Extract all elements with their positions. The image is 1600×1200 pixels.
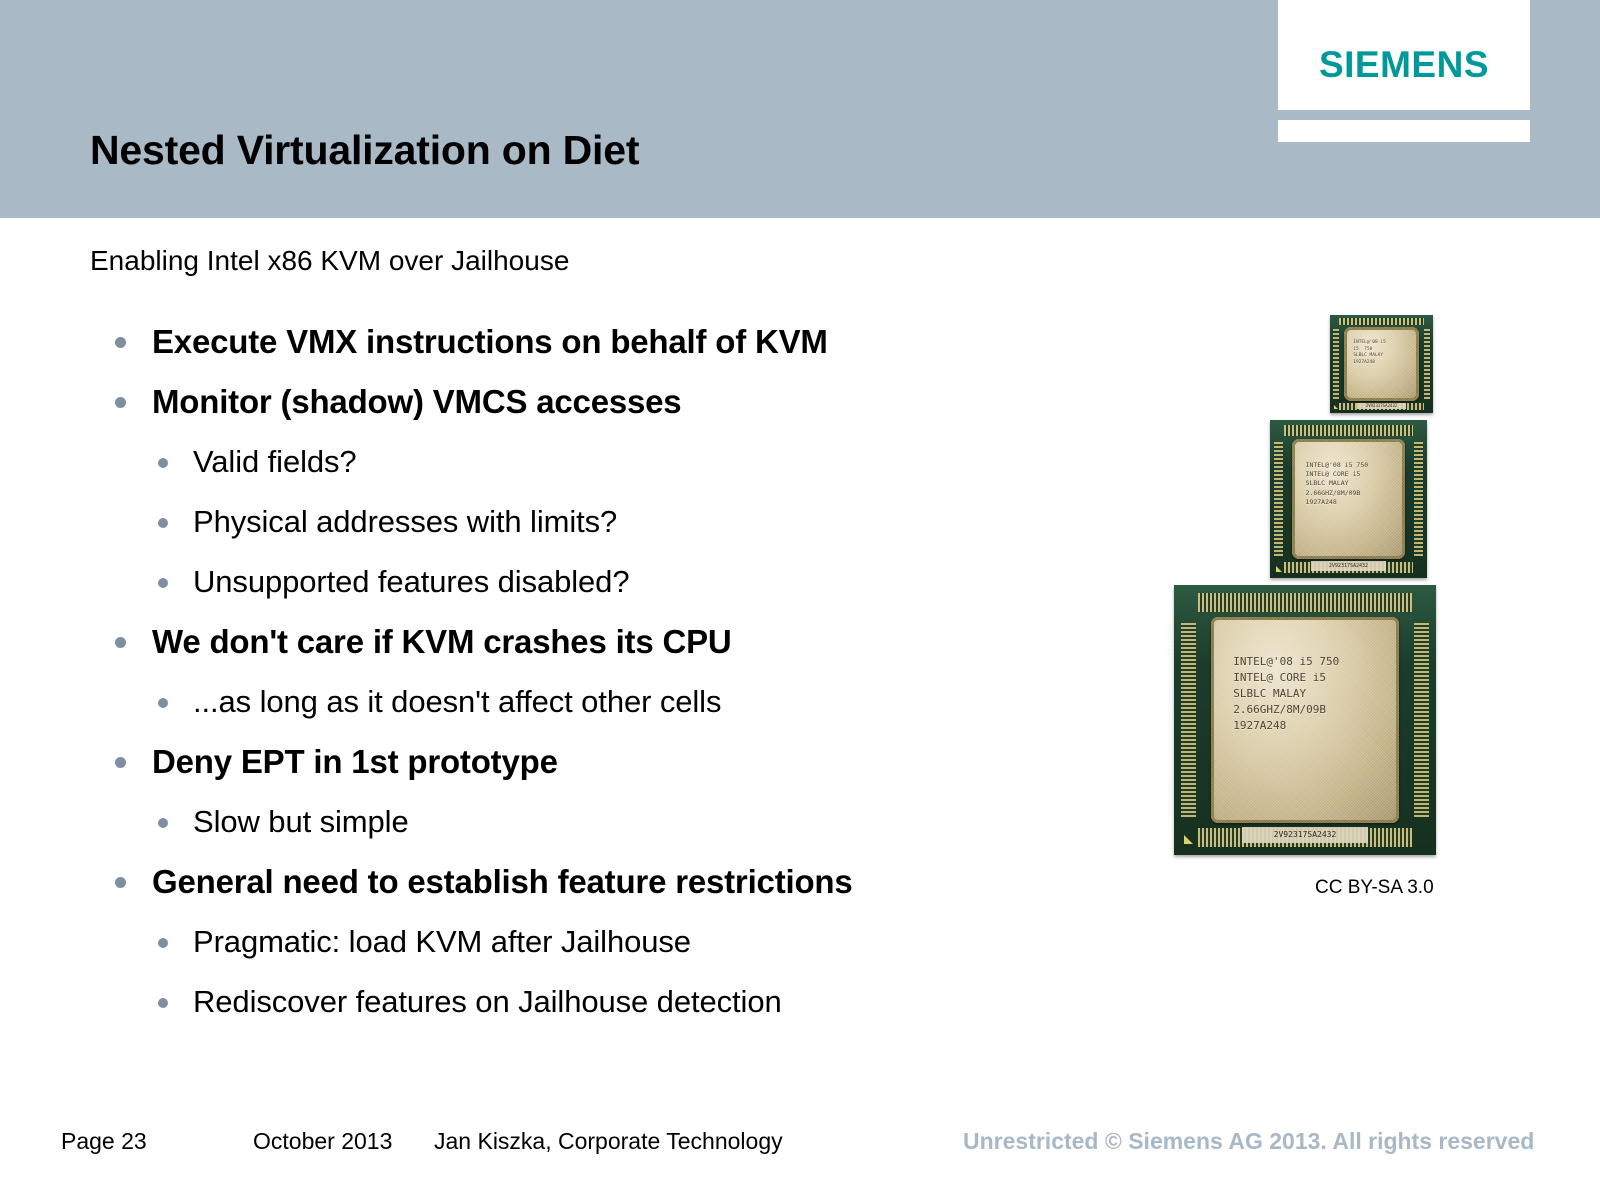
bullet-text: Unsupported features disabled? (193, 564, 629, 599)
cpu-pin-row-left (1181, 623, 1197, 817)
bullet-text: We don't care if KVM crashes its CPU (152, 623, 732, 660)
slide-footer: Page 23 October 2013 Jan Kiszka, Corpora… (0, 1128, 1600, 1168)
bullet-text: Deny EPT in 1st prototype (152, 743, 558, 780)
siemens-logo-wordmark: SIEMENS (1319, 46, 1489, 83)
cpu-photo-small: INTEL@'08 i5 i5 750 SLBLC MALAY 1927A248… (1330, 315, 1433, 413)
bullet-item: Execute VMX instructions on behalf of KV… (96, 312, 1086, 372)
bullet-item: Deny EPT in 1st prototype (96, 732, 1086, 792)
bullet-text: General need to establish feature restri… (152, 863, 853, 900)
bullet-text: Pragmatic: load KVM after Jailhouse (193, 924, 691, 959)
bullet-text: Rediscover features on Jailhouse detecti… (193, 984, 782, 1019)
cpu-heat-spreader: INTEL@'08 i5 i5 750 SLBLC MALAY 1927A248 (1344, 327, 1418, 401)
bullet-item: Monitor (shadow) VMCS accesses (96, 372, 1086, 432)
bullet-item: ...as long as it doesn't affect other ce… (96, 672, 1086, 732)
bullet-dot-icon (158, 818, 168, 828)
cpu-serial-label: 2V92317SA2432 (1242, 827, 1368, 843)
cpu-die-marking: INTEL@'08 i5 i5 750 SLBLC MALAY 1927A248 (1353, 340, 1414, 366)
cpu-pin-row-top (1284, 425, 1413, 436)
bullet-dot-icon (158, 998, 168, 1008)
bullet-item: Rediscover features on Jailhouse detecti… (96, 972, 1086, 1032)
siemens-logo-box: SIEMENS (1278, 0, 1530, 110)
cpu-serial-label: 2V92317SA2432 (1357, 403, 1406, 409)
cpu-pin-row-right (1424, 329, 1430, 400)
bullet-item: Unsupported features disabled? (96, 552, 1086, 612)
image-license-caption: CC BY-SA 3.0 (1315, 877, 1434, 899)
cpu-pin-row-left (1274, 442, 1283, 556)
bullet-item: Slow but simple (96, 792, 1086, 852)
bullet-dot-icon (158, 458, 168, 468)
cpu-pin1-marker-icon (1276, 566, 1282, 572)
footer-author: Jan Kiszka, Corporate Technology (434, 1128, 783, 1155)
cpu-substrate: INTEL@'08 i5 750 INTEL@ CORE i5 SLBLC MA… (1270, 420, 1427, 578)
cpu-pin-row-right (1414, 623, 1430, 817)
bullet-dot-icon (158, 938, 168, 948)
slide-subtitle: Enabling Intel x86 KVM over Jailhouse (90, 245, 569, 277)
bullet-text: Slow but simple (193, 804, 409, 839)
bullet-dot-icon (158, 578, 168, 588)
slide-title: Nested Virtualization on Diet (90, 127, 639, 174)
bullet-dot-icon (115, 877, 126, 888)
footer-copyright: Unrestricted © Siemens AG 2013. All righ… (963, 1128, 1534, 1155)
cpu-pin1-marker-icon (1334, 405, 1338, 409)
bullet-text: Valid fields? (193, 444, 357, 479)
cpu-photo-medium: INTEL@'08 i5 750 INTEL@ CORE i5 SLBLC MA… (1270, 420, 1427, 578)
bullet-dot-icon (158, 518, 168, 528)
bullet-text: Execute VMX instructions on behalf of KV… (152, 323, 828, 360)
footer-date: October 2013 (253, 1128, 392, 1155)
cpu-pin-row-right (1414, 442, 1423, 556)
bullet-item: Valid fields? (96, 432, 1086, 492)
cpu-serial-label: 2V92317SA2432 (1311, 561, 1386, 570)
siemens-logo-underbar (1278, 120, 1530, 142)
bullet-dot-icon (115, 397, 126, 408)
cpu-pin-row-top (1339, 318, 1423, 325)
footer-page-number: Page 23 (61, 1128, 147, 1155)
bullet-text: ...as long as it doesn't affect other ce… (193, 684, 721, 719)
cpu-pin-row-left (1333, 329, 1339, 400)
bullet-text: Physical addresses with limits? (193, 504, 617, 539)
bullet-dot-icon (115, 337, 126, 348)
cpu-heat-spreader: INTEL@'08 i5 750 INTEL@ CORE i5 SLBLC MA… (1292, 439, 1405, 559)
bullet-item: We don't care if KVM crashes its CPU (96, 612, 1086, 672)
bullet-item: Pragmatic: load KVM after Jailhouse (96, 912, 1086, 972)
cpu-photo-group: INTEL@'08 i5 i5 750 SLBLC MALAY 1927A248… (1160, 310, 1490, 910)
bullet-dot-icon (115, 757, 126, 768)
cpu-photo-large: INTEL@'08 i5 750 INTEL@ CORE i5 SLBLC MA… (1174, 585, 1436, 855)
cpu-heat-spreader: INTEL@'08 i5 750 INTEL@ CORE i5 SLBLC MA… (1211, 617, 1400, 822)
cpu-die-marking: INTEL@'08 i5 750 INTEL@ CORE i5 SLBLC MA… (1233, 654, 1388, 734)
bullet-item: Physical addresses with limits? (96, 492, 1086, 552)
bullet-item: General need to establish feature restri… (96, 852, 1086, 912)
bullet-dot-icon (115, 637, 126, 648)
cpu-pin1-marker-icon (1184, 835, 1193, 844)
cpu-substrate: INTEL@'08 i5 i5 750 SLBLC MALAY 1927A248… (1330, 315, 1433, 413)
cpu-pin-row-top (1198, 593, 1413, 612)
bullet-list: Execute VMX instructions on behalf of KV… (96, 312, 1086, 1032)
bullet-text: Monitor (shadow) VMCS accesses (152, 383, 681, 420)
bullet-dot-icon (158, 698, 168, 708)
cpu-die-marking: INTEL@'08 i5 750 INTEL@ CORE i5 SLBLC MA… (1306, 461, 1399, 508)
cpu-substrate: INTEL@'08 i5 750 INTEL@ CORE i5 SLBLC MA… (1174, 585, 1436, 855)
